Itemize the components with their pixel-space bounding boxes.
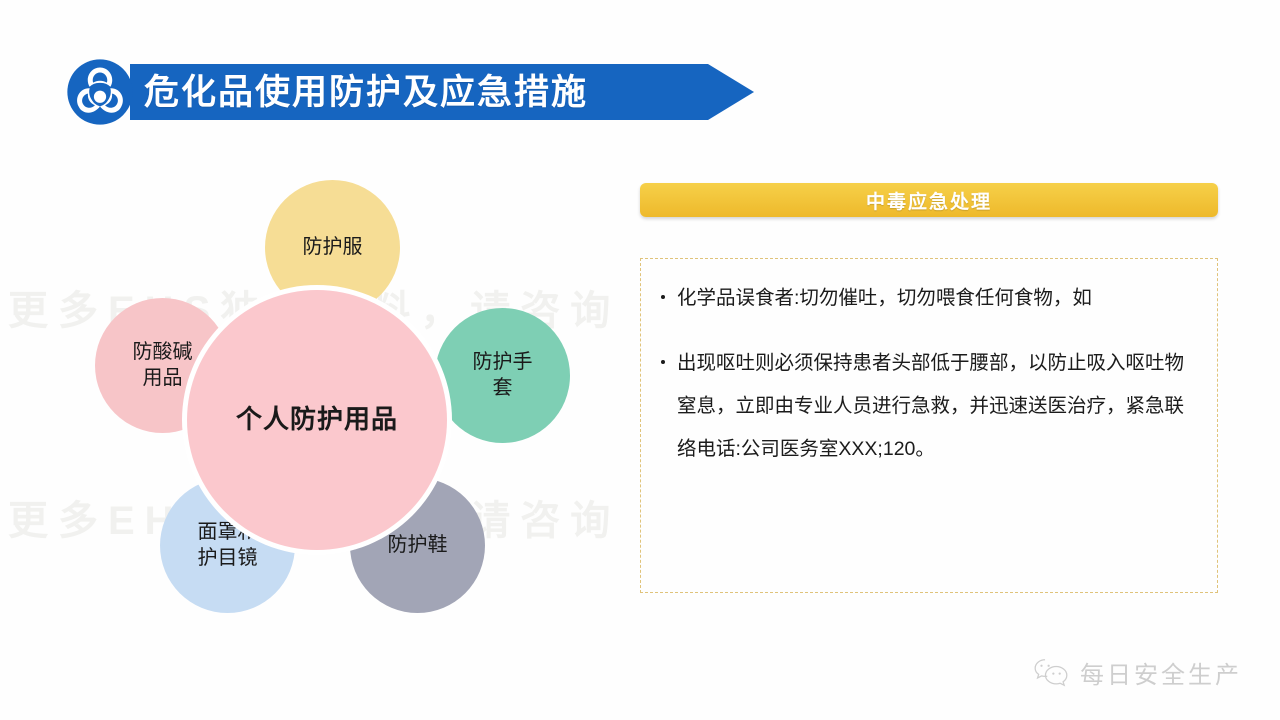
panel-body: 化学品误食者:切勿催吐，切勿喂食任何食物，如 出现呕吐则必须保持患者头部低于腰部…	[640, 258, 1218, 593]
bubble-label: 防护服	[297, 235, 369, 261]
wechat-icon	[1032, 657, 1070, 689]
panel-header-bar: 中毒应急处理	[640, 183, 1218, 217]
bubble-label: 防护鞋	[382, 533, 454, 559]
bubble-personal-protective-equipment[interactable]: 个人防护用品	[187, 290, 447, 550]
bubble-center-label: 个人防护用品	[230, 403, 404, 436]
panel-header-title: 中毒应急处理	[866, 187, 992, 214]
bubble-protective-gloves[interactable]: 防护手套	[435, 308, 570, 443]
biohazard-icon	[66, 58, 134, 126]
poisoning-emergency-panel: 中毒应急处理 化学品误食者:切勿催吐，切勿喂食任何食物，如 出现呕吐则必须保持患…	[640, 183, 1218, 593]
page-title: 危化品使用防护及应急措施	[130, 75, 588, 110]
title-arrow-shape: 危化品使用防护及应急措施	[130, 64, 754, 120]
slide-title-banner: 危化品使用防护及应急措施	[66, 56, 754, 128]
bubble-label: 防护手套	[467, 350, 539, 401]
footer-brand-label: 每日安全生产	[1080, 655, 1242, 690]
slide-canvas: 更多EHS独家资料，请咨询 更多EHS独家资料，请咨询 危化品使用防护及应急措施…	[0, 0, 1280, 720]
emergency-steps-list: 化学品误食者:切勿催吐，切勿喂食任何食物，如 出现呕吐则必须保持患者头部低于腰部…	[655, 277, 1201, 471]
ppe-bubble-diagram: 防护服 防酸碱用品 防护手套 面罩和护目镜 防护鞋 个人防护用品	[85, 180, 565, 610]
list-item: 化学品误食者:切勿催吐，切勿喂食任何食物，如	[655, 277, 1201, 320]
footer-brand: 每日安全生产	[1032, 655, 1242, 690]
bubble-label: 防酸碱用品	[127, 340, 199, 391]
list-item: 出现呕吐则必须保持患者头部低于腰部，以防止吸入呕吐物窒息，立即由专业人员进行急救…	[655, 342, 1201, 471]
